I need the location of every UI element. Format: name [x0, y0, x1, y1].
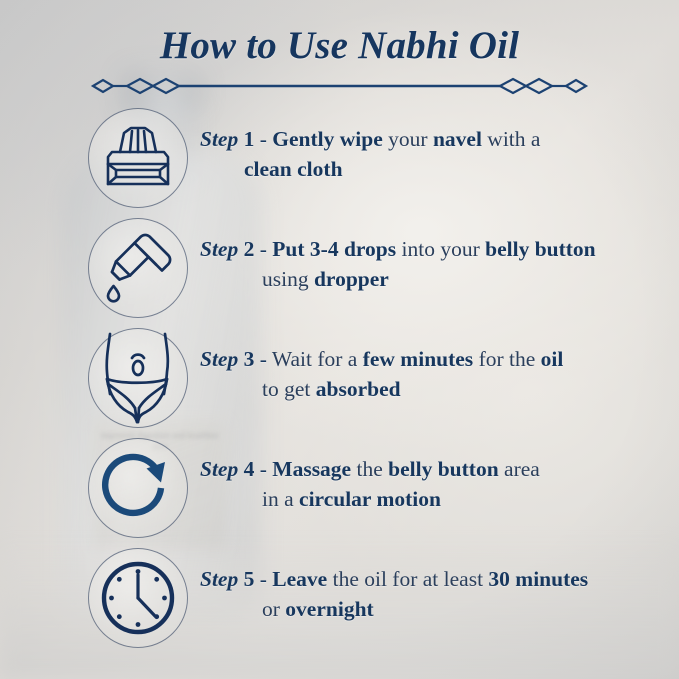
- step-row: Step 1 - Gently wipe your navel with a c…: [0, 104, 679, 214]
- step-dash: -: [260, 347, 272, 371]
- step-line1: Wait for a few minutes for the oil: [272, 347, 563, 371]
- step-label: Step: [200, 567, 244, 591]
- step-text: Step 3 - Wait for a few minutes for the …: [200, 344, 660, 404]
- step-number: 4: [244, 457, 260, 481]
- infographic-poster: improved digestion and healthier skin Ho…: [0, 0, 679, 679]
- steps-list: Step 1 - Gently wipe your navel with a c…: [0, 104, 679, 654]
- step-line1: Leave the oil for at least 30 minutes: [272, 567, 588, 591]
- step-text: Step 5 - Leave the oil for at least 30 m…: [200, 564, 660, 624]
- circular-arrow-icon: [88, 438, 188, 538]
- step-text: Step 2 - Put 3-4 drops into your belly b…: [200, 234, 660, 294]
- step-line2: using dropper: [200, 264, 660, 294]
- clock-icon: [88, 548, 188, 648]
- step-dash: -: [260, 237, 273, 261]
- page-title: How to Use Nabhi Oil: [0, 22, 679, 69]
- step-row: Step 5 - Leave the oil for at least 30 m…: [0, 544, 679, 654]
- tissue-box-icon: [88, 108, 188, 208]
- step-line2: or overnight: [200, 594, 660, 624]
- step-line1: Gently wipe your navel with a: [272, 127, 540, 151]
- step-number: 2: [244, 237, 260, 261]
- step-label: Step: [200, 127, 244, 151]
- step-number: 3: [244, 347, 260, 371]
- step-dash: -: [260, 457, 273, 481]
- step-row: Step 3 - Wait for a few minutes for the …: [0, 324, 679, 434]
- step-text: Step 1 - Gently wipe your navel with a c…: [200, 124, 660, 184]
- step-dash: -: [260, 127, 273, 151]
- dropper-icon: [88, 218, 188, 318]
- ornamental-divider: [90, 74, 589, 98]
- step-label: Step: [200, 347, 244, 371]
- step-text: Step 4 - Massage the belly button area i…: [200, 454, 660, 514]
- step-row: Step 2 - Put 3-4 drops into your belly b…: [0, 214, 679, 324]
- step-line2: clean cloth: [200, 154, 660, 184]
- step-dash: -: [260, 567, 273, 591]
- step-label: Step: [200, 457, 244, 481]
- torso-navel-icon: [88, 328, 188, 428]
- step-line1: Put 3-4 drops into your belly button: [272, 237, 595, 261]
- step-row: Step 4 - Massage the belly button area i…: [0, 434, 679, 544]
- step-number: 1: [244, 127, 260, 151]
- step-line2: to get absorbed: [200, 374, 660, 404]
- step-line1: Massage the belly button area: [272, 457, 540, 481]
- step-line2: in a circular motion: [200, 484, 660, 514]
- step-number: 5: [244, 567, 260, 591]
- step-label: Step: [200, 237, 244, 261]
